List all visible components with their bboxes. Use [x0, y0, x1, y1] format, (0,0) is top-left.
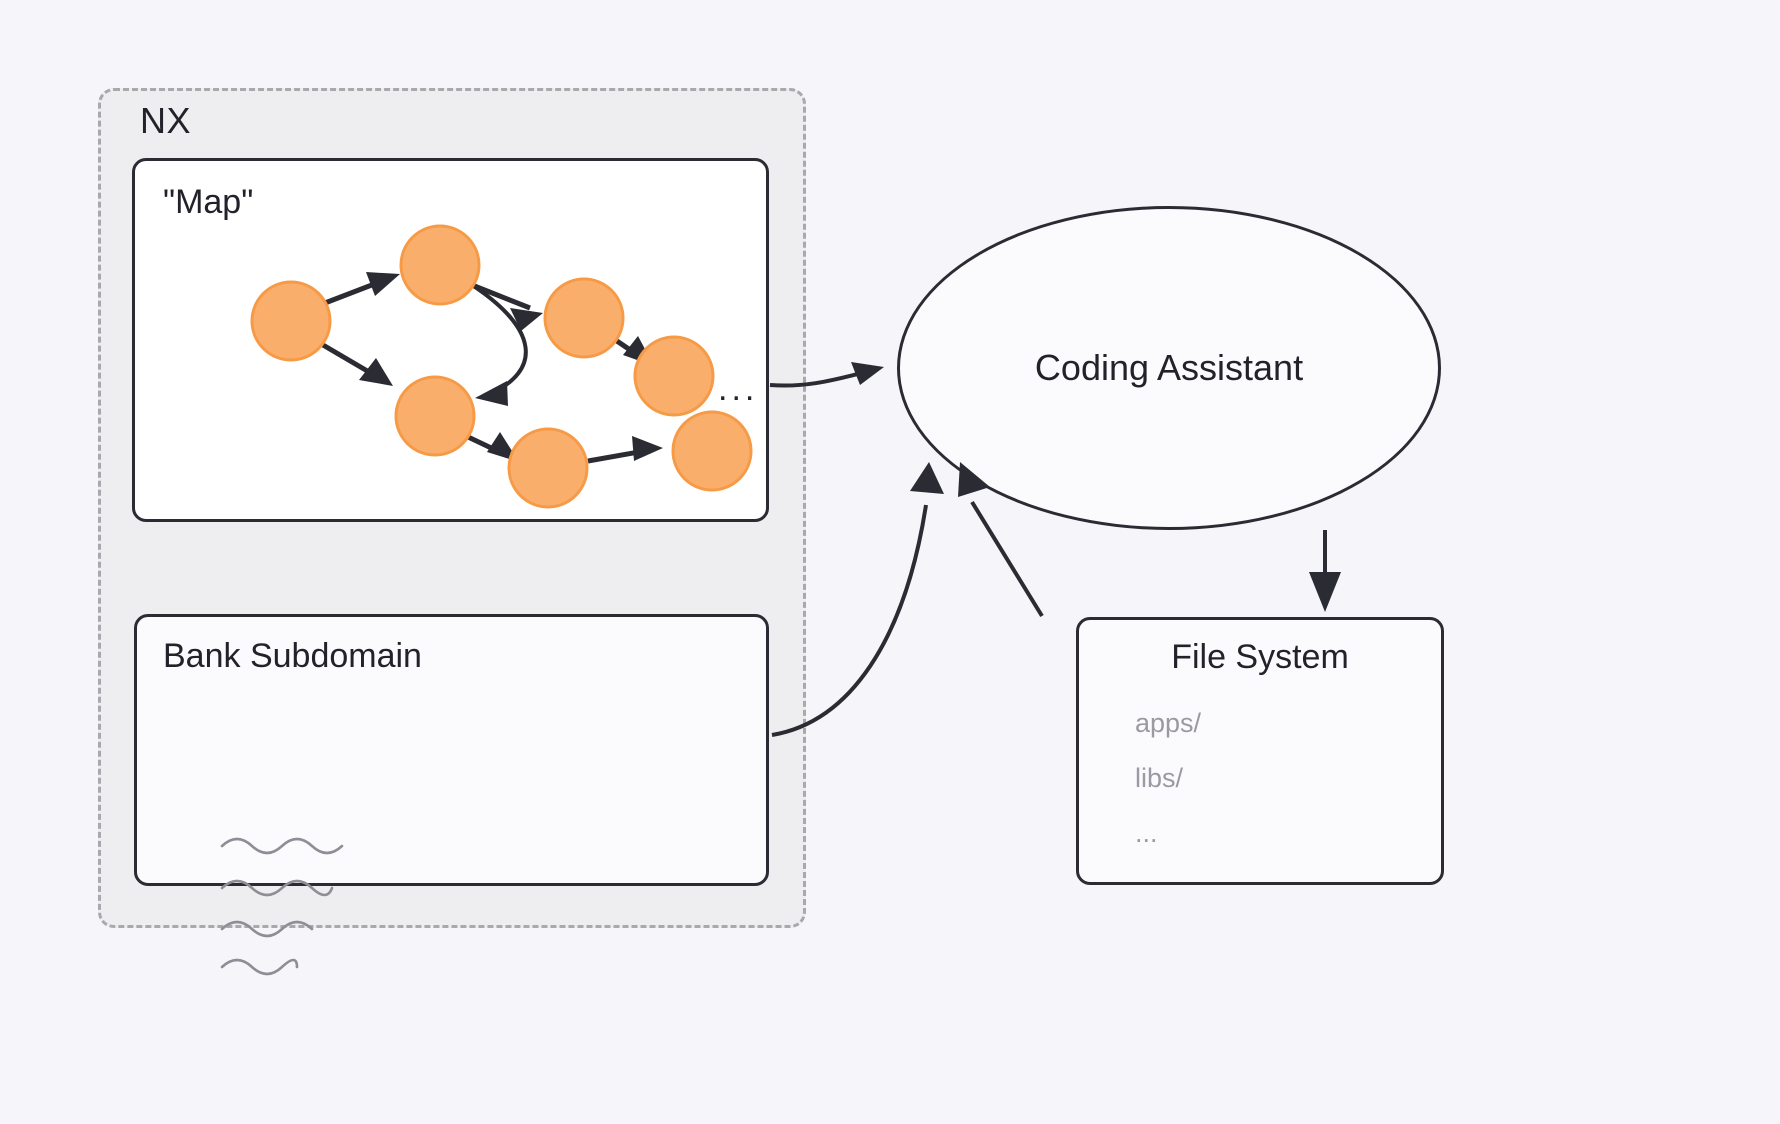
file-system-title: File System — [1079, 638, 1441, 677]
file-system-item: apps/ — [1135, 710, 1201, 737]
connector-assistant-to-filesystem — [1309, 530, 1341, 612]
squiggle-line — [222, 960, 297, 974]
file-system-list: apps/ libs/ ... — [1135, 710, 1201, 875]
bank-subdomain-title: Bank Subdomain — [163, 637, 422, 676]
map-graph-ellipsis: ... — [718, 372, 758, 406]
bank-subdomain-card: Bank Subdomain — [134, 614, 769, 886]
nx-container-label: NX — [140, 100, 191, 142]
coding-assistant-label: Coding Assistant — [900, 347, 1438, 389]
connector-line — [972, 502, 1042, 616]
map-card: "Map" — [132, 158, 769, 522]
coding-assistant-node: Coding Assistant — [897, 206, 1441, 530]
diagram-canvas: NX "Map" Bank Subdomain Coding Assistant… — [0, 0, 1780, 1124]
arrowhead-icon — [910, 462, 944, 494]
file-system-item: libs/ — [1135, 765, 1201, 792]
arrowhead-icon — [851, 362, 884, 385]
map-card-title: "Map" — [163, 183, 253, 222]
arrowhead-icon — [1309, 572, 1341, 612]
file-system-card: File System apps/ libs/ ... — [1076, 617, 1444, 885]
file-system-item: ... — [1135, 820, 1201, 847]
